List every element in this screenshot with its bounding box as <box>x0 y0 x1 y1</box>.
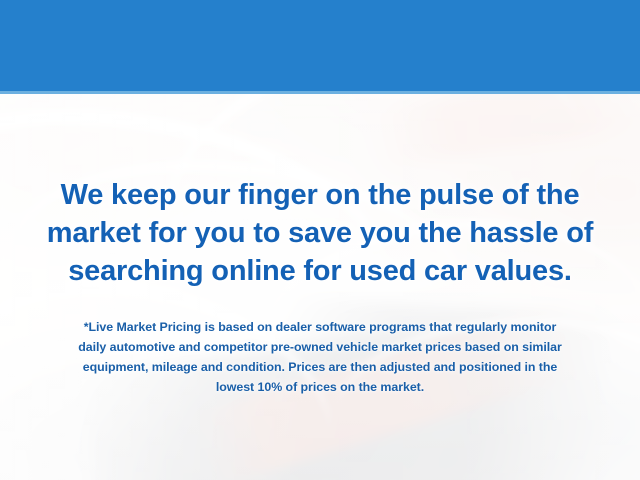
headline-line-2: market for you to save you the hassle of <box>0 214 640 252</box>
live-market-pricing-banner: Live Market Pricing* We keep our finger … <box>0 0 640 480</box>
headline-line-1: We keep our finger on the pulse of the <box>0 176 640 214</box>
disclaimer: *Live Market Pricing is based on dealer … <box>0 317 640 397</box>
disclaimer-line-2: daily automotive and competitor pre-owne… <box>0 337 640 357</box>
disclaimer-line-3: equipment, mileage and condition. Prices… <box>0 357 640 377</box>
headline: We keep our finger on the pulse of the m… <box>0 176 640 290</box>
disclaimer-line-4: lowest 10% of prices on the market. <box>0 377 640 397</box>
header-band <box>0 0 640 91</box>
headline-line-3: searching online for used car values. <box>0 252 640 290</box>
disclaimer-line-1: *Live Market Pricing is based on dealer … <box>0 317 640 337</box>
header-band-underline <box>0 91 640 94</box>
